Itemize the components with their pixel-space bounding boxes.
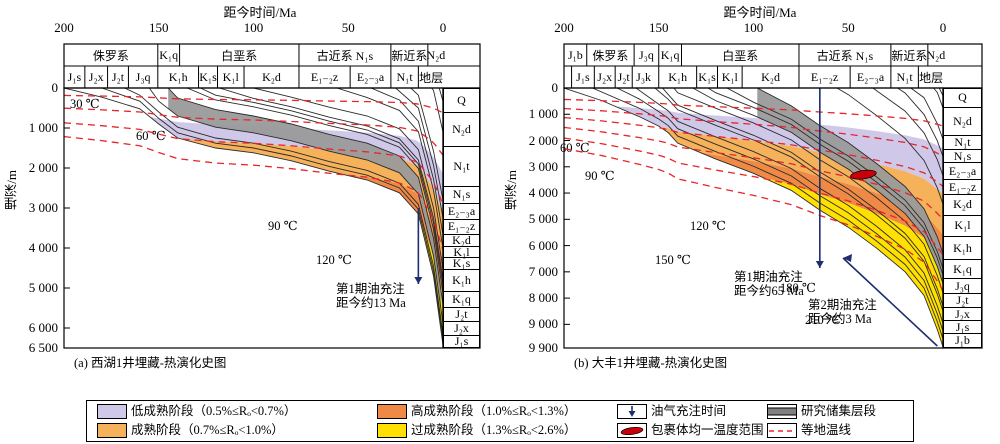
isotherm-line-icon [767, 423, 797, 438]
legend-item: 高成熟阶段（1.0%≤Rₒ<1.3%） [377, 404, 576, 419]
panel-a-caption: (a) 西湖1井埋藏-热演化史图 [74, 352, 226, 371]
legend-item: 等地温线 [767, 423, 851, 438]
panel-b: 距今时间/Ma 埋深/m 200150100500 01 0002 0003 0… [500, 0, 1000, 396]
oil-charge-arrow-icon [617, 404, 647, 419]
legend-color-swatch [97, 423, 127, 438]
legend-item: 研究储集层段 [767, 404, 876, 419]
legend-color-swatch [377, 404, 407, 419]
legend-item: 油气充注时间 [617, 404, 726, 419]
legend-label: 高成熟阶段（1.0%≤Rₒ<1.3%） [411, 405, 576, 418]
panel-b-plot [500, 0, 1000, 396]
legend-item: 低成熟阶段（0.5%≤Rₒ<0.7%） [97, 404, 296, 419]
legend-item: 包裹体均一温度范围 [617, 423, 764, 438]
legend-item: 过成熟阶段（1.3%≤Rₒ<2.6%） [377, 423, 576, 438]
figure-root: 距今时间/Ma 埋深/m 200150100500 01 0002 0003 0… [0, 0, 1000, 444]
legend-box: 低成熟阶段（0.5%≤Rₒ<0.7%）高成熟阶段（1.0%≤Rₒ<1.3%）油气… [86, 400, 914, 442]
legend-label: 等地温线 [801, 424, 851, 437]
legend-label: 成熟阶段（0.7%≤Rₒ<1.0%） [131, 424, 284, 437]
legend-color-swatch [377, 423, 407, 438]
legend-color-swatch [97, 404, 127, 419]
legend-label: 研究储集层段 [801, 405, 876, 418]
panel-b-caption: (b) 大丰1井埋藏-热演化史图 [574, 352, 727, 371]
fluid-inclusion-icon [617, 423, 647, 438]
legend-item: 成熟阶段（0.7%≤Rₒ<1.0%） [97, 423, 284, 438]
legend-label: 低成熟阶段（0.5%≤Rₒ<0.7%） [131, 405, 296, 418]
panel-a-plot [0, 0, 500, 396]
panel-a: 距今时间/Ma 埋深/m 200150100500 01 0002 0003 0… [0, 0, 500, 396]
legend-label: 油气充注时间 [651, 405, 726, 418]
legend-label: 过成熟阶段（1.3%≤Rₒ<2.6%） [411, 424, 576, 437]
legend-label: 包裹体均一温度范围 [651, 424, 764, 437]
reservoir-interval-icon [767, 404, 797, 419]
